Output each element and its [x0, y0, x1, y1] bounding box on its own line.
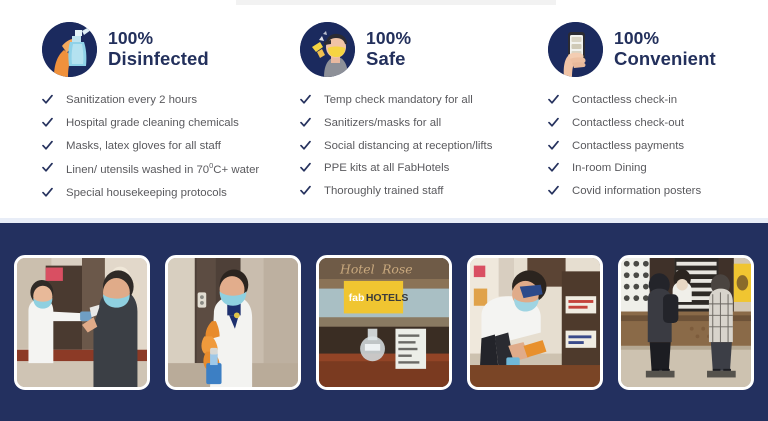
feature-list-safe: Temp check mandatory for all Sanitizers/…	[300, 93, 546, 198]
list-item-label: Hospital grade cleaning chemicals	[66, 116, 239, 130]
check-icon	[300, 117, 311, 128]
feature-title-block-safe: 100% Safe	[366, 29, 411, 69]
list-item: Social distancing at reception/lifts	[300, 139, 546, 153]
feature-header-convenient: 100% Convenient	[548, 22, 768, 77]
feature-percent: 100%	[366, 29, 411, 49]
feature-percent: 100%	[614, 29, 716, 49]
check-icon	[548, 94, 559, 105]
top-wash-strip	[236, 0, 556, 5]
list-item: Sanitization every 2 hours	[42, 93, 296, 107]
photo-lift-sanitizing	[165, 255, 301, 390]
list-item-label: Sanitization every 2 hours	[66, 93, 197, 107]
list-item: Hospital grade cleaning chemicals	[42, 116, 296, 130]
list-item: Masks, latex gloves for all staff	[42, 139, 296, 153]
check-icon	[300, 140, 311, 151]
list-item: Contactless check-in	[548, 93, 768, 107]
check-icon	[300, 94, 311, 105]
list-item-label: Social distancing at reception/lifts	[324, 139, 492, 153]
feature-header-disinfected: 100% Disinfected	[42, 22, 296, 77]
list-item: Contactless check-out	[548, 116, 768, 130]
list-item-label: Temp check mandatory for all	[324, 93, 473, 107]
svg-text:fab: fab	[349, 291, 365, 303]
check-icon	[42, 117, 53, 128]
list-item-label: Contactless payments	[572, 139, 684, 153]
features-row: 100% Disinfected Sanitization every 2 ho…	[0, 0, 768, 218]
photo-gallery-band: Hotel Rose fab HOTELS	[0, 223, 768, 421]
list-item: Temp check mandatory for all	[300, 93, 546, 107]
feature-title: Disinfected	[108, 49, 209, 70]
svg-text:Rose: Rose	[381, 261, 413, 276]
photo-reception-signage: Hotel Rose fab HOTELS	[316, 255, 452, 390]
feature-percent: 100%	[108, 29, 209, 49]
svg-text:HOTELS: HOTELS	[366, 291, 409, 303]
photo-surface-cleaning	[467, 255, 603, 390]
list-item-label: In-room Dining	[572, 161, 647, 175]
list-item: Special housekeeping protocols	[42, 186, 296, 200]
svg-text:Hotel: Hotel	[339, 261, 375, 276]
photo-social-distancing	[618, 255, 754, 390]
check-icon	[548, 185, 559, 196]
check-icon	[300, 162, 311, 173]
list-item-label: Special housekeeping protocols	[66, 186, 227, 200]
check-icon	[548, 162, 559, 173]
list-item: Linen/ utensils washed in 700C+ water	[42, 161, 296, 177]
feature-list-disinfected: Sanitization every 2 hours Hospital grad…	[42, 93, 296, 200]
check-icon	[42, 162, 53, 173]
feature-list-convenient: Contactless check-in Contactless check-o…	[548, 93, 768, 198]
check-icon	[42, 140, 53, 151]
feature-title-block-convenient: 100% Convenient	[614, 29, 716, 69]
list-item-label: Contactless check-out	[572, 116, 684, 130]
covid-safety-poster: 100% Disinfected Sanitization every 2 ho…	[0, 0, 768, 421]
spray-bottle-hand-icon	[42, 22, 97, 77]
feature-title: Convenient	[614, 49, 716, 70]
check-icon	[548, 140, 559, 151]
list-item: Covid information posters	[548, 184, 768, 198]
list-item-label: Masks, latex gloves for all staff	[66, 139, 221, 153]
list-item: Sanitizers/masks for all	[300, 116, 546, 130]
list-item-label: Contactless check-in	[572, 93, 677, 107]
list-item-label: Covid information posters	[572, 184, 701, 198]
feature-header-safe: 100% Safe	[300, 22, 546, 77]
check-icon	[548, 117, 559, 128]
list-item: Contactless payments	[548, 139, 768, 153]
feature-column-disinfected: 100% Disinfected Sanitization every 2 ho…	[0, 22, 296, 218]
list-item-label: Sanitizers/masks for all	[324, 116, 441, 130]
check-icon	[42, 94, 53, 105]
list-item: In-room Dining	[548, 161, 768, 175]
list-item-label: PPE kits at all FabHotels	[324, 161, 449, 175]
photo-temperature-check	[14, 255, 150, 390]
list-item-label: Linen/ utensils washed in 700C+ water	[66, 161, 259, 177]
check-icon	[300, 185, 311, 196]
hand-holding-phone-icon	[548, 22, 603, 77]
feature-title-block-disinfected: 100% Disinfected	[108, 29, 209, 69]
feature-column-safe: 100% Safe Temp check mandatory for all S…	[296, 22, 546, 218]
check-icon	[42, 187, 53, 198]
thermometer-gun-person-icon	[300, 22, 355, 77]
feature-column-convenient: 100% Convenient Contactless check-in Con…	[546, 22, 768, 218]
list-item-label: Thoroughly trained staff	[324, 184, 443, 198]
list-item: PPE kits at all FabHotels	[300, 161, 546, 175]
list-item: Thoroughly trained staff	[300, 184, 546, 198]
feature-title: Safe	[366, 49, 411, 70]
